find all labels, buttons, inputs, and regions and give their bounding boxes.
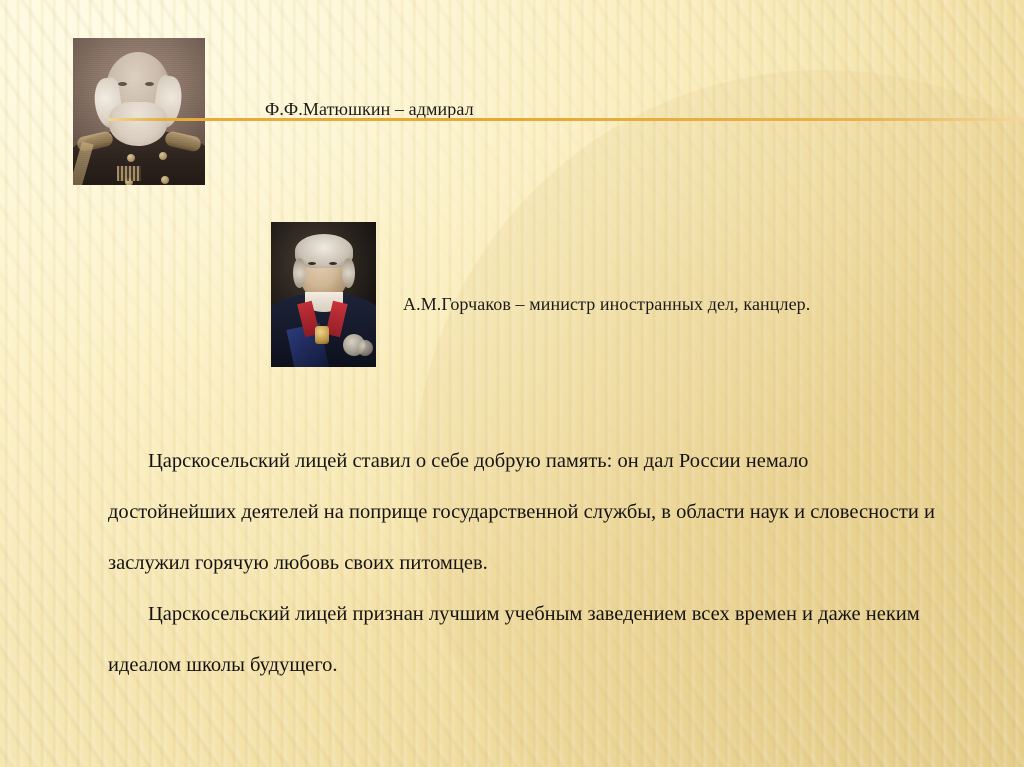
caption-matyushkin: Ф.Ф.Матюшкин – адмирал [265,99,474,120]
portrait-eye-left [308,262,316,265]
portrait-image-gorchakov [271,222,376,367]
body-paragraph-1: Царскосельский лицей ставил о себе добру… [108,436,938,589]
portrait-eye-right [329,262,337,265]
title-underline-rule [108,118,1024,121]
portrait-film-grain [73,38,205,185]
body-text-block: Царскосельский лицей ставил о себе добру… [108,436,938,691]
presentation-slide: Ф.Ф.Матюшкин – адмирал А.М.Горчаков – ми… [0,0,1024,767]
portrait-order-cross [315,326,329,344]
portrait-sideburn-left [293,258,306,288]
portrait-order-star-secondary [357,340,373,356]
caption-gorchakov: А.М.Горчаков – министр иностранных дел, … [403,294,810,315]
portrait-sideburn-right [342,258,355,288]
body-paragraph-2: Царскосельский лицей признан лучшим учеб… [108,589,938,691]
portrait-image-matyushkin [73,38,205,185]
